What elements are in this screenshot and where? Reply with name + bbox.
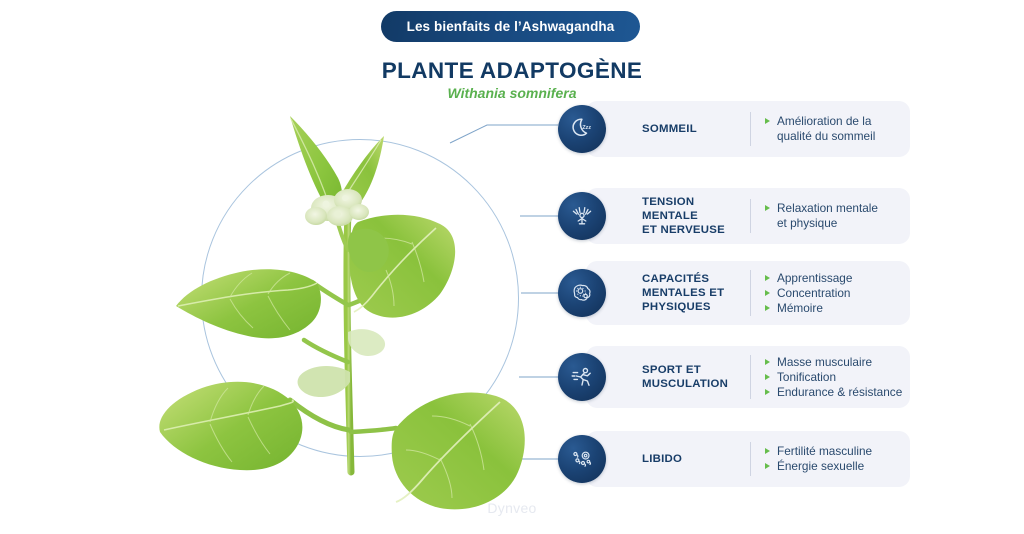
benefit-card[interactable]: SOMMEIL Amélioration de la qualité du so… bbox=[586, 101, 910, 157]
list-item: Apprentissage bbox=[765, 271, 852, 286]
benefit-category: TENSION MENTALE ET NERVEUSE bbox=[642, 195, 750, 237]
relaxed-person-icon bbox=[558, 192, 606, 240]
watermark: Dynveo bbox=[0, 500, 1024, 516]
arrow-bullet-icon bbox=[765, 359, 770, 365]
benefit-category: SOMMEIL bbox=[642, 122, 750, 136]
benefit-category: LIBIDO bbox=[642, 452, 750, 466]
card-divider bbox=[750, 442, 751, 476]
benefit-items: Masse musculaire Tonification Endurance … bbox=[765, 355, 902, 400]
benefit-item-text: Masse musculaire bbox=[777, 355, 872, 370]
benefit-card[interactable]: SPORT ET MUSCULATION Masse musculaire To… bbox=[586, 346, 910, 408]
benefit-card[interactable]: LIBIDO Fertilité masculine Énergie sexue… bbox=[586, 431, 910, 487]
benefit-item-text: Relaxation mentale et physique bbox=[777, 201, 878, 231]
benefit-card[interactable]: TENSION MENTALE ET NERVEUSE Relaxation m… bbox=[586, 188, 910, 244]
svg-text:Zzz: Zzz bbox=[582, 125, 591, 131]
card-divider bbox=[750, 199, 751, 233]
benefit-row-sommeil[interactable]: SOMMEIL Amélioration de la qualité du so… bbox=[558, 101, 910, 157]
benefit-item-text: Tonification bbox=[777, 370, 836, 385]
card-divider bbox=[750, 270, 751, 316]
benefit-items: Relaxation mentale et physique bbox=[765, 201, 878, 231]
arrow-bullet-icon bbox=[765, 389, 770, 395]
arrow-bullet-icon bbox=[765, 205, 770, 211]
arrow-bullet-icon bbox=[765, 374, 770, 380]
plant-illustration bbox=[140, 100, 560, 520]
arrow-bullet-icon bbox=[765, 290, 770, 296]
benefit-category: SPORT ET MUSCULATION bbox=[642, 363, 750, 391]
list-item: Masse musculaire bbox=[765, 355, 902, 370]
card-divider bbox=[750, 355, 751, 399]
benefit-item-text: Fertilité masculine bbox=[777, 444, 872, 459]
list-item: Énergie sexuelle bbox=[765, 459, 872, 474]
arrow-bullet-icon bbox=[765, 305, 770, 311]
benefit-row-sport[interactable]: SPORT ET MUSCULATION Masse musculaire To… bbox=[558, 346, 910, 408]
brain-gears-icon bbox=[558, 269, 606, 317]
list-item: Amélioration de la qualité du sommeil bbox=[765, 114, 875, 144]
list-item: Fertilité masculine bbox=[765, 444, 872, 459]
benefit-item-text: Mémoire bbox=[777, 301, 823, 316]
benefit-row-capacites[interactable]: CAPACITÉS MENTALES ET PHYSIQUES Apprenti… bbox=[558, 261, 910, 325]
arrow-bullet-icon bbox=[765, 118, 770, 124]
list-item: Mémoire bbox=[765, 301, 852, 316]
list-item: Concentration bbox=[765, 286, 852, 301]
running-person-icon bbox=[558, 353, 606, 401]
arrow-bullet-icon bbox=[765, 448, 770, 454]
benefit-items: Amélioration de la qualité du sommeil bbox=[765, 114, 875, 144]
flower-cluster bbox=[305, 189, 369, 226]
list-item: Tonification bbox=[765, 370, 902, 385]
ashwagandha-plant-graphic bbox=[140, 100, 560, 520]
benefit-row-tension-mentale[interactable]: TENSION MENTALE ET NERVEUSE Relaxation m… bbox=[558, 188, 910, 244]
fertility-sperm-egg-icon bbox=[558, 435, 606, 483]
arrow-bullet-icon bbox=[765, 463, 770, 469]
benefit-item-text: Énergie sexuelle bbox=[777, 459, 864, 474]
benefit-item-text: Concentration bbox=[777, 286, 850, 301]
benefit-items: Fertilité masculine Énergie sexuelle bbox=[765, 444, 872, 474]
benefit-card[interactable]: CAPACITÉS MENTALES ET PHYSIQUES Apprenti… bbox=[586, 261, 910, 325]
benefit-items: Apprentissage Concentration Mémoire bbox=[765, 271, 852, 316]
benefit-item-text: Apprentissage bbox=[777, 271, 852, 286]
benefit-item-text: Amélioration de la qualité du sommeil bbox=[777, 114, 875, 144]
list-item: Endurance & résistance bbox=[765, 385, 902, 400]
benefit-category: CAPACITÉS MENTALES ET PHYSIQUES bbox=[642, 272, 750, 314]
card-divider bbox=[750, 112, 751, 146]
moon-sleep-icon: Zzz bbox=[558, 105, 606, 153]
benefit-item-text: Endurance & résistance bbox=[777, 385, 902, 400]
benefit-row-libido[interactable]: LIBIDO Fertilité masculine Énergie sexue… bbox=[558, 431, 910, 487]
arrow-bullet-icon bbox=[765, 275, 770, 281]
list-item: Relaxation mentale et physique bbox=[765, 201, 878, 231]
